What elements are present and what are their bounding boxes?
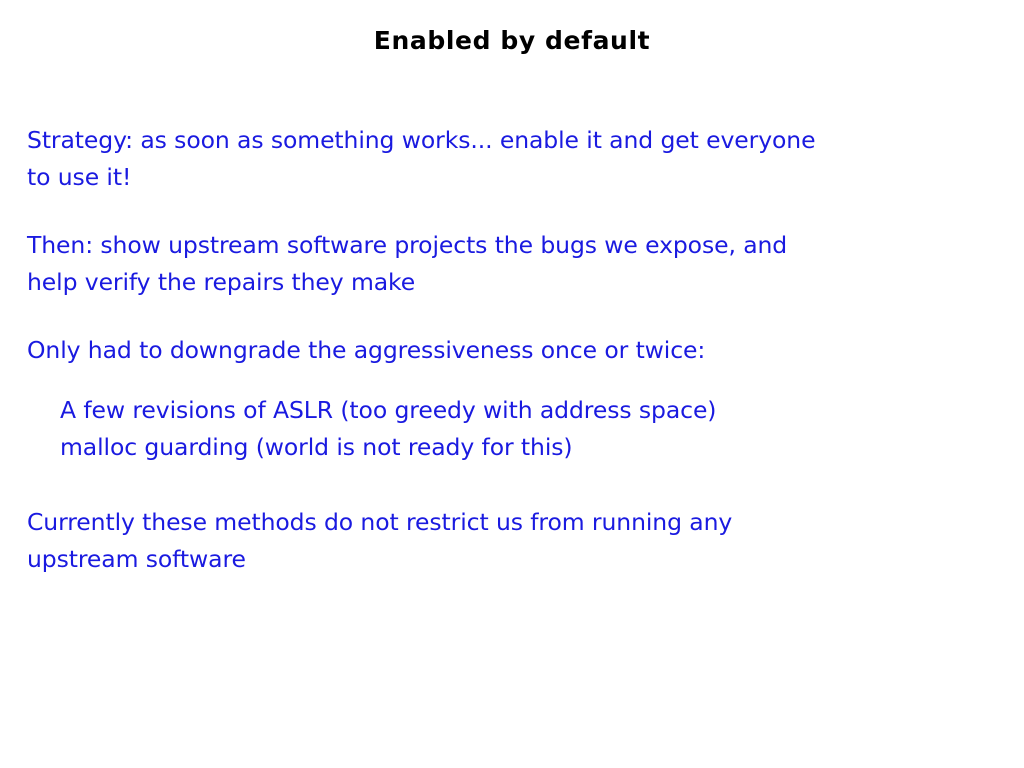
paragraph-line: Currently these methods do not restrict …: [27, 504, 987, 541]
paragraph-line: upstream software: [27, 541, 987, 578]
presentation-slide: Enabled by default Strategy: as soon as …: [0, 0, 1024, 768]
paragraph-line: to use it!: [27, 159, 987, 196]
paragraph-line: Strategy: as soon as something works... …: [27, 122, 987, 159]
paragraph-then: Then: show upstream software projects th…: [27, 227, 987, 301]
sub-item-malloc: malloc guarding (world is not ready for …: [60, 429, 987, 466]
paragraph-line: Then: show upstream software projects th…: [27, 227, 987, 264]
paragraph-examples: A few revisions of ASLR (too greedy with…: [60, 392, 987, 466]
sub-item-aslr: A few revisions of ASLR (too greedy with…: [60, 392, 987, 429]
slide-title: Enabled by default: [0, 26, 1024, 56]
paragraph-line: help verify the repairs they make: [27, 264, 987, 301]
slide-body: Strategy: as soon as something works... …: [27, 122, 987, 578]
paragraph-only: Only had to downgrade the aggressiveness…: [27, 332, 987, 369]
paragraph-line: Only had to downgrade the aggressiveness…: [27, 332, 987, 369]
paragraph-currently: Currently these methods do not restrict …: [27, 504, 987, 578]
paragraph-strategy: Strategy: as soon as something works... …: [27, 122, 987, 196]
